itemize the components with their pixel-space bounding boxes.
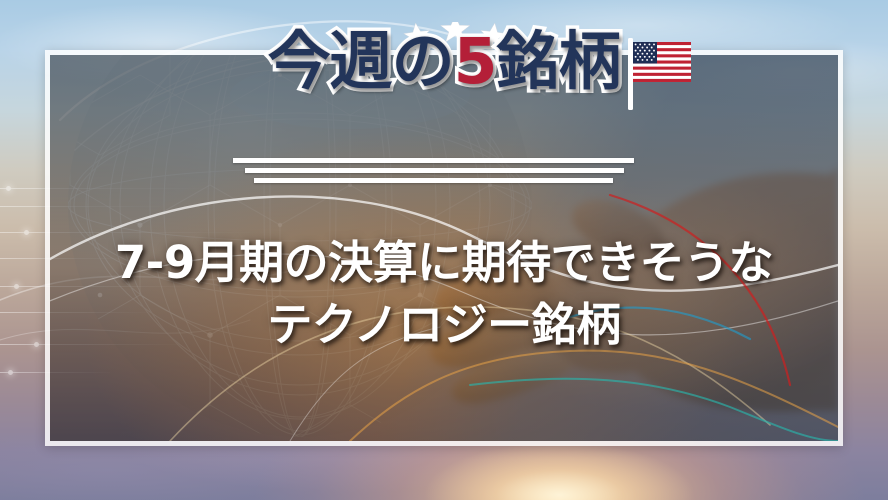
poster-canvas: 今週の5銘柄: [0, 0, 888, 500]
white-frame-border: [45, 50, 843, 446]
